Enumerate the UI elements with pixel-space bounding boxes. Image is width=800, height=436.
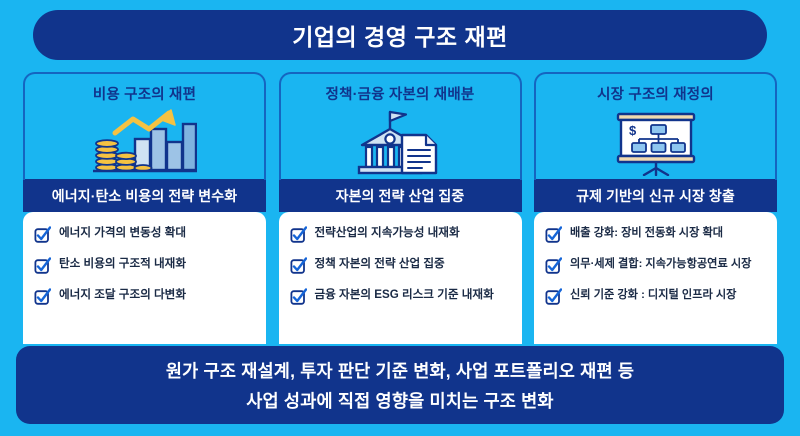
check-box-icon <box>290 288 307 305</box>
list-item: 탄소 비용의 구조적 내재화 <box>34 257 257 274</box>
column-subtitle-label: 에너지·탄소 비용의 전략 변수화 <box>52 186 237 206</box>
check-box-icon <box>545 226 562 243</box>
footer-line-2: 사업 성과에 직접 영향을 미치는 구조 변화 <box>246 388 553 413</box>
list-item-label: 신뢰 기준 강화 : 디지털 인프라 시장 <box>570 288 736 302</box>
list-item-label: 정책 자본의 전략 산업 집중 <box>315 257 445 271</box>
footer-line-1: 원가 구조 재설계, 투자 판단 기준 변화, 사업 포트폴리오 재편 등 <box>166 358 634 383</box>
infographic-root: 기업의 경영 구조 재편 비용 구조의 재편 <box>0 0 800 436</box>
list-item: 에너지 조달 구조의 다변화 <box>34 288 257 305</box>
column-header-frame: 시장 구조의 재정의 $ <box>534 72 777 180</box>
check-box-icon <box>545 288 562 305</box>
list-item: 신뢰 기준 강화 : 디지털 인프라 시장 <box>545 288 768 305</box>
columns-container: 비용 구조의 재편 <box>0 72 800 344</box>
list-item-label: 전략산업의 지속가능성 내재화 <box>315 226 460 240</box>
check-box-icon <box>34 257 51 274</box>
page-title: 기업의 경영 구조 재편 <box>292 18 508 52</box>
list-item-label: 의무·세제 결합: 지속가능항공연료 시장 <box>570 257 751 271</box>
bank-building-document-icon <box>350 107 450 177</box>
check-box-icon <box>34 226 51 243</box>
column-list-card: 전략산업의 지속가능성 내재화 정책 자본의 전략 산업 집중 <box>279 212 522 344</box>
column-capital-reallocation: 정책·금융 자본의 재배분 <box>279 72 522 344</box>
list-item: 정책 자본의 전략 산업 집중 <box>290 257 513 274</box>
column-list-card: 에너지 가격의 변동성 확대 탄소 비용의 구조적 내재화 <box>23 212 266 344</box>
list-item: 에너지 가격의 변동성 확대 <box>34 226 257 243</box>
column-subtitle-bar: 에너지·탄소 비용의 전략 변수화 <box>23 179 266 212</box>
list-item: 의무·세제 결합: 지속가능항공연료 시장 <box>545 257 768 274</box>
title-banner: 기업의 경영 구조 재편 <box>33 10 767 60</box>
column-header-label: 정책·금융 자본의 재배분 <box>326 83 475 104</box>
bar-chart-coins-arrow-icon <box>93 107 197 177</box>
footer-banner: 원가 구조 재설계, 투자 판단 기준 변화, 사업 포트폴리오 재편 등 사업… <box>16 346 784 424</box>
column-header-frame: 비용 구조의 재편 <box>23 72 266 180</box>
list-item: 전략산업의 지속가능성 내재화 <box>290 226 513 243</box>
list-item-label: 탄소 비용의 구조적 내재화 <box>59 257 186 271</box>
list-item-label: 에너지 조달 구조의 다변화 <box>59 288 186 302</box>
column-subtitle-bar: 자본의 전략 산업 집중 <box>279 179 522 212</box>
column-subtitle-label: 규제 기반의 신규 시장 창출 <box>576 186 735 206</box>
check-box-icon <box>545 257 562 274</box>
list-item: 배출 강화: 장비 전동화 시장 확대 <box>545 226 768 243</box>
column-subtitle-bar: 규제 기반의 신규 시장 창출 <box>534 179 777 212</box>
list-item-label: 에너지 가격의 변동성 확대 <box>59 226 186 240</box>
presentation-orgchart-dollar-icon: $ <box>610 107 702 177</box>
column-cost-structure: 비용 구조의 재편 <box>23 72 266 344</box>
list-item: 금융 자본의 ESG 리스크 기준 내재화 <box>290 288 513 305</box>
check-box-icon <box>290 257 307 274</box>
column-subtitle-label: 자본의 전략 산업 집중 <box>336 186 465 206</box>
column-header-label: 시장 구조의 재정의 <box>597 83 714 104</box>
list-item-label: 배출 강화: 장비 전동화 시장 확대 <box>570 226 723 240</box>
check-box-icon <box>290 226 307 243</box>
svg-text:$: $ <box>629 123 637 138</box>
column-list-card: 배출 강화: 장비 전동화 시장 확대 의무·세제 결합: 지속가능항공연료 시… <box>534 212 777 344</box>
column-header-frame: 정책·금융 자본의 재배분 <box>279 72 522 180</box>
column-header-label: 비용 구조의 재편 <box>93 83 196 104</box>
check-box-icon <box>34 288 51 305</box>
column-market-redefinition: 시장 구조의 재정의 $ <box>534 72 777 344</box>
list-item-label: 금융 자본의 ESG 리스크 기준 내재화 <box>315 288 494 302</box>
